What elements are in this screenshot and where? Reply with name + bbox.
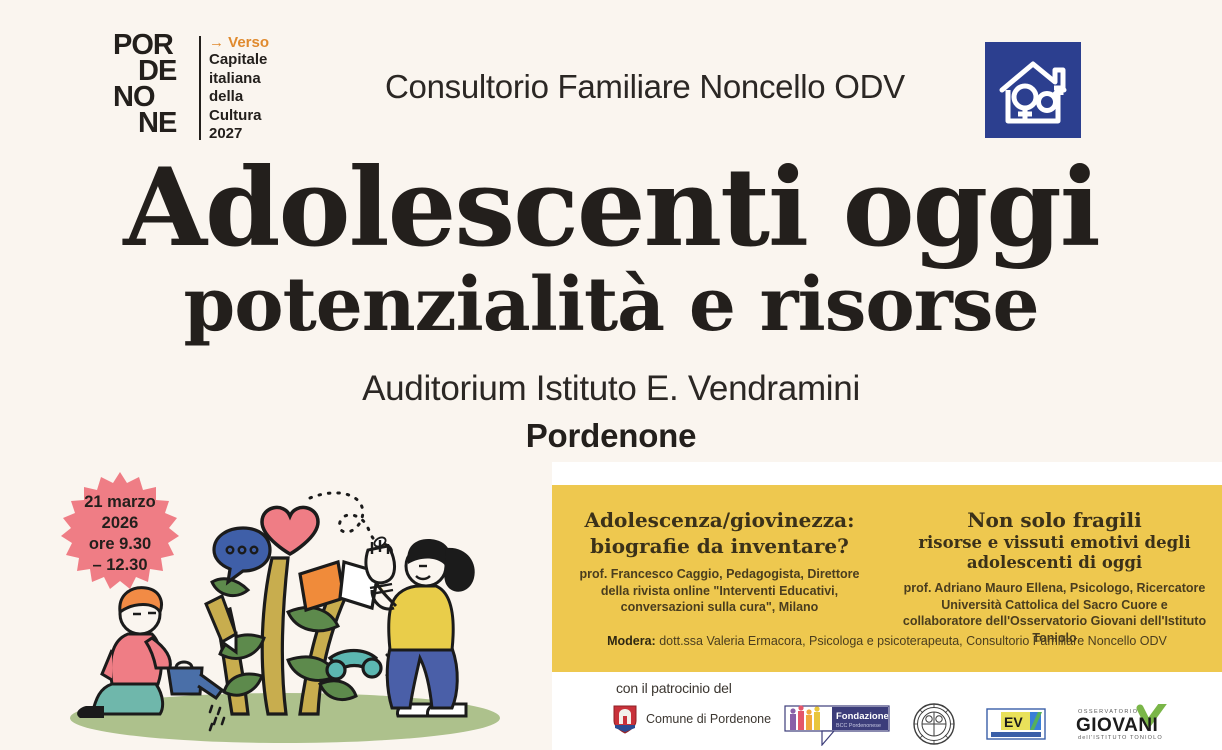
session-2-title-line-3: adolescenti di oggi (901, 553, 1208, 573)
program-panel: Adolescenza/giovinezza: biografie da inv… (552, 485, 1222, 672)
date-badge: 21 marzo 2026 ore 9.30 – 12.30 (56, 470, 184, 598)
pordenone-capitale-logo: POR DE NO NE → Verso Capitale italiana d… (113, 32, 288, 144)
sponsor-fondazione-bcc: Fondazione BCC Pordenonese (784, 702, 890, 746)
session-2-title-line-1: Non solo fragili (901, 507, 1208, 533)
svg-text:dell'ISTITUTO TONIOLO: dell'ISTITUTO TONIOLO (1078, 735, 1163, 741)
sponsor-evi: EV (986, 708, 1046, 740)
capitale-year: 2027 (209, 125, 299, 144)
capitale-line-3: della (209, 88, 299, 107)
session-1: Adolescenza/giovinezza: biografie da inv… (552, 485, 887, 633)
capitale-line-2: italiana (209, 70, 299, 89)
patronage-label: con il patrocinio del (616, 680, 732, 696)
pordenone-mark-line-4: NE (138, 110, 176, 137)
poster: POR DE NO NE → Verso Capitale italiana d… (0, 0, 1222, 750)
organisation-title: Consultorio Familiare Noncello ODV (385, 68, 905, 106)
sponsors-area: con il patrocinio del Comune di Pordenon… (552, 672, 1222, 750)
badge-line-3: ore 9.30 (89, 534, 151, 555)
session-2: Non solo fragili risorse e vissuti emoti… (887, 485, 1222, 633)
sponsor-comune-pordenone: Comune di Pordenone (612, 704, 771, 734)
page-title: Adolescenti oggi (0, 156, 1222, 260)
svg-text:GIOVANI: GIOVANI (1076, 715, 1158, 736)
sponsor-logos: Comune di Pordenone (612, 702, 1212, 748)
session-1-speaker: prof. Francesco Caggio, Pedagogista, Dir… (566, 566, 873, 616)
badge-line-2: 2026 (102, 513, 139, 534)
logo-divider (199, 36, 201, 140)
capitale-cultura-text: → Verso Capitale italiana della Cultura … (209, 34, 299, 144)
badge-line-4: – 12.30 (92, 555, 147, 576)
moderator-text: dott.ssa Valeria Ermacora, Psicologa e p… (659, 634, 1167, 648)
fondazione-bcc-icon: Fondazione BCC Pordenonese (784, 702, 890, 746)
osservatorio-giovani-icon: OSSERVATORIO GIOVANI dell'ISTITUTO TONIO… (1064, 704, 1220, 744)
university-seal-icon (912, 702, 956, 746)
session-1-title-line-1: Adolescenza/giovinezza: (566, 507, 873, 533)
sponsor-university-seal (912, 702, 956, 746)
venue-name: Auditorium Istituto E. Vendramini (0, 369, 1222, 409)
venue-city: Pordenone (0, 417, 1222, 455)
capitale-line-1: Capitale (209, 51, 299, 70)
session-2-title-line-2: risorse e vissuti emotivi degli (901, 533, 1208, 553)
moderator-line: Modera: dott.ssa Valeria Ermacora, Psico… (552, 633, 1222, 649)
sponsor-osservatorio-giovani: OSSERVATORIO GIOVANI dell'ISTITUTO TONIO… (1064, 704, 1220, 744)
date-badge-text: 21 marzo 2026 ore 9.30 – 12.30 (56, 470, 184, 598)
civic-crest-icon (612, 704, 638, 734)
sponsor-comune-label: Comune di Pordenone (646, 712, 771, 726)
svg-text:EV: EV (1004, 714, 1023, 730)
page-subtitle: potenzialità e risorse (0, 268, 1222, 342)
illustration: 21 marzo 2026 ore 9.30 – 12.30 (0, 462, 552, 750)
verso-label: → Verso (209, 34, 299, 51)
capitale-line-4: Cultura (209, 107, 299, 126)
badge-line-1: 21 marzo (84, 492, 156, 513)
evi-logo-icon: EV (986, 708, 1046, 740)
panel-top-spacer (552, 462, 1222, 485)
house-gender-symbols-icon (985, 42, 1081, 138)
svg-text:Fondazione: Fondazione (836, 711, 889, 722)
moderator-label: Modera: (607, 634, 656, 648)
program-columns: Adolescenza/giovinezza: biografie da inv… (552, 485, 1222, 633)
pordenone-wordmark: POR DE NO NE (113, 32, 195, 144)
svg-text:BCC Pordenonese: BCC Pordenonese (836, 723, 881, 729)
session-1-title-line-2: biografie da inventare? (566, 533, 873, 559)
